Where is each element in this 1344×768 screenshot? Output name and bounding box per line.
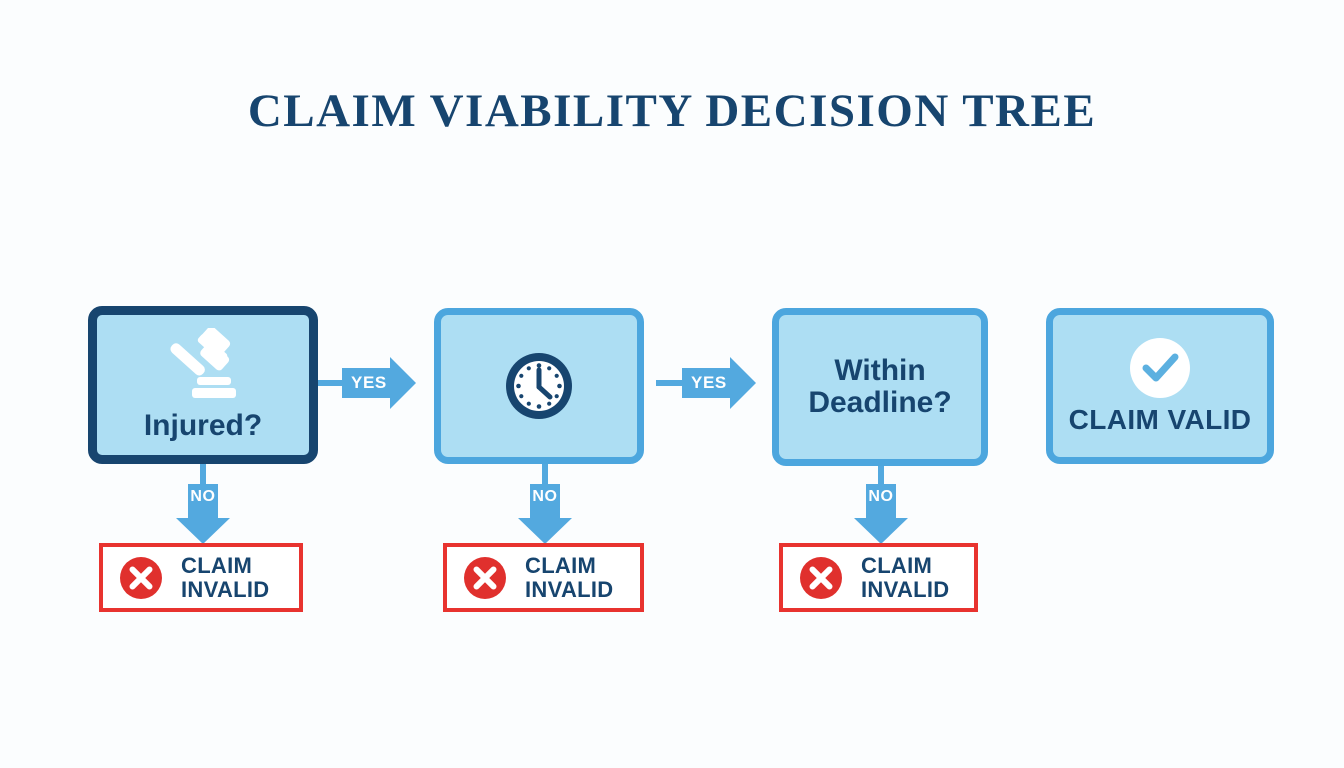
yes-label: YES [682, 373, 727, 393]
claim-invalid-box-2[interactable]: CLAIM INVALID [443, 543, 644, 612]
arrow-head [176, 518, 230, 544]
yes-connector-timing-to-deadline: YES [656, 357, 756, 409]
node-claim-valid[interactable]: CLAIM VALID [1046, 308, 1274, 464]
node-injured-label: Injured? [144, 410, 262, 442]
check-circle-icon [1129, 337, 1191, 399]
page-title: CLAIM VIABILITY DECISION TREE [0, 84, 1344, 138]
arrow-right-icon: YES [682, 357, 756, 409]
yes-label: YES [342, 373, 387, 393]
arrow-down-icon: NO [176, 484, 230, 544]
claim-invalid-box-3[interactable]: CLAIM INVALID [779, 543, 978, 612]
yes-connector-injured-to-timing: YES [318, 357, 416, 409]
claim-invalid-box-1[interactable]: CLAIM INVALID [99, 543, 303, 612]
claim-invalid-label: CLAIM INVALID [861, 554, 949, 602]
node-deadline-label: Within Deadline? [808, 355, 951, 419]
no-connector-injured-to-invalid: NO [176, 464, 230, 544]
connector-line [318, 380, 342, 386]
no-label: NO [518, 488, 572, 506]
arrow-head [854, 518, 908, 544]
gavel-icon [161, 328, 245, 404]
connector-line [200, 464, 206, 484]
no-label: NO [176, 488, 230, 506]
arrow-down-icon: NO [854, 484, 908, 544]
decision-tree-canvas: CLAIM VIABILITY DECISION TREE Injured? [0, 0, 1344, 768]
connector-line [656, 380, 682, 386]
connector-line [878, 466, 884, 484]
arrow-down-icon: NO [518, 484, 572, 544]
x-circle-icon [119, 556, 163, 600]
no-label: NO [854, 488, 908, 506]
x-circle-icon [799, 556, 843, 600]
node-timing[interactable] [434, 308, 644, 464]
node-injured[interactable]: Injured? [88, 306, 318, 464]
arrow-right-icon: YES [342, 357, 416, 409]
connector-line [542, 464, 548, 484]
x-circle-icon [463, 556, 507, 600]
no-connector-timing-to-invalid: NO [518, 464, 572, 544]
arrow-head [730, 357, 756, 409]
arrow-head [390, 357, 416, 409]
arrow-head [518, 518, 572, 544]
node-claim-valid-label: CLAIM VALID [1069, 405, 1252, 435]
clock-icon [502, 349, 576, 423]
claim-invalid-label: CLAIM INVALID [525, 554, 613, 602]
claim-invalid-label: CLAIM INVALID [181, 554, 269, 602]
no-connector-deadline-to-invalid: NO [854, 466, 908, 544]
node-deadline[interactable]: Within Deadline? [772, 308, 988, 466]
